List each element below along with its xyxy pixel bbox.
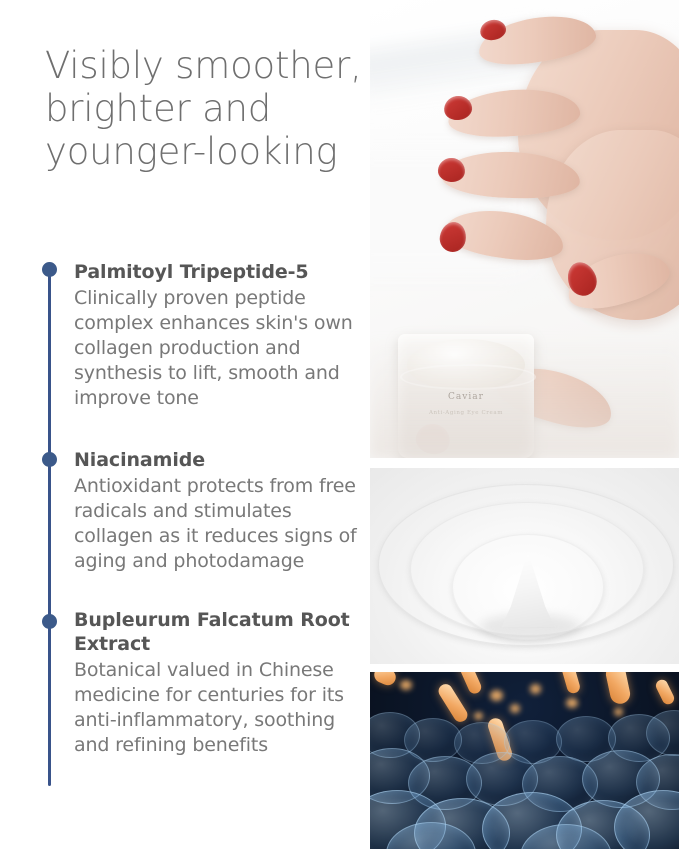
page-title: Visibly smoother, brighter and younger-l… [45, 44, 365, 173]
capsule-glow [510, 704, 520, 713]
photo-cream-texture [370, 468, 679, 664]
capsule-shape [604, 672, 632, 706]
capsule-shape [457, 672, 484, 696]
capsule-shape [561, 672, 582, 695]
photo-cell-science [370, 672, 679, 849]
photo-hand-with-jar: Caviar Anti-Aging Eye Cream [370, 0, 679, 458]
capsule-glow [530, 684, 541, 694]
bullet-dot-icon [42, 262, 57, 277]
capsule-glow [400, 680, 412, 690]
text-column: Visibly smoother, brighter and younger-l… [0, 0, 370, 849]
timeline-spine [48, 268, 51, 786]
capsule-glow [474, 712, 483, 720]
capsule-shape [654, 678, 676, 707]
capsule-glow [490, 690, 503, 701]
infographic-page: Visibly smoother, brighter and younger-l… [0, 0, 679, 849]
bullet-dot-icon [42, 452, 57, 467]
ingredient-block: Palmitoyl Tripeptide-5 Clinically proven… [74, 260, 359, 411]
surface-shadow [370, 338, 679, 458]
ingredient-name: Palmitoyl Tripeptide-5 [74, 260, 359, 284]
ingredient-block: Niacinamide Antioxidant protects from fr… [74, 448, 359, 574]
bullet-dot-icon [42, 614, 57, 629]
ingredient-description: Antioxidant protects from free radicals … [74, 474, 359, 574]
capsule-glow [614, 708, 623, 716]
ingredient-name: Bupleurum Falcatum Root Extract [74, 608, 359, 656]
ingredient-description: Botanical valued in Chinese medicine for… [74, 658, 359, 758]
ingredient-block: Bupleurum Falcatum Root Extract Botanica… [74, 608, 359, 758]
capsule-shape [372, 672, 399, 688]
ingredient-name: Niacinamide [74, 448, 359, 472]
capsule-glow [566, 698, 578, 708]
image-column: Caviar Anti-Aging Eye Cream [370, 0, 679, 849]
ingredient-description: Clinically proven peptide complex enhanc… [74, 286, 359, 411]
